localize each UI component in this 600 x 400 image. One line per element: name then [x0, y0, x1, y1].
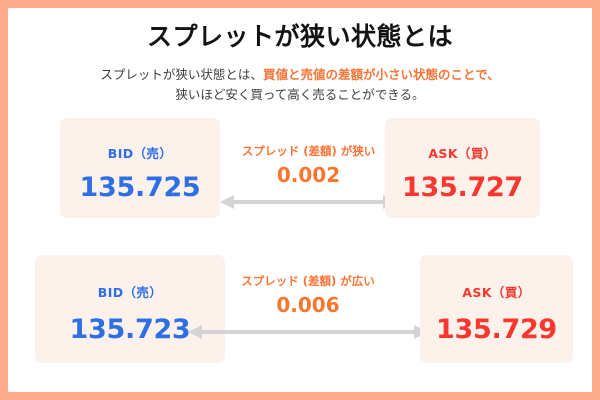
- bid-value: 135.723: [70, 316, 191, 343]
- spread-value: 0.006: [188, 295, 428, 315]
- subtitle-line2: 狭いほど安く買って高く売ることができる。: [175, 87, 424, 102]
- spread-label: スプレッド (差額) が狭い: [220, 146, 397, 158]
- bid-label: BID（売）: [108, 148, 172, 161]
- header: スプレットが狭い状態とは スプレットが狭い状態とは、買値と売値の差額が小さい状態…: [8, 22, 592, 106]
- spread-narrow: スプレッド (差額) が狭い 0.002: [220, 146, 397, 210]
- page-subtitle: スプレットが狭い状態とは、買値と売値の差額が小さい状態のことで、 狭いほど安く買…: [8, 65, 592, 106]
- spread-label: スプレッド (差額) が広い: [188, 276, 428, 288]
- ask-value: 135.727: [402, 174, 523, 201]
- spread-value: 0.002: [220, 165, 397, 185]
- spread-wide: スプレッド (差額) が広い 0.006: [188, 276, 428, 340]
- page-title: スプレットが狭い状態とは: [8, 22, 592, 52]
- ask-box-wide: ASK（買） 135.729: [420, 255, 573, 363]
- bid-box-narrow: BID（売） 135.725: [60, 118, 220, 218]
- bid-label: BID（売）: [98, 287, 162, 300]
- ask-label: ASK（買）: [462, 287, 530, 300]
- ask-label: ASK（買）: [428, 148, 496, 161]
- spread-infographic: スプレットが狭い状態とは スプレットが狭い状態とは、買値と売値の差額が小さい状態…: [0, 0, 600, 400]
- double-arrow-horizontal-icon: [220, 194, 397, 210]
- ask-box-narrow: ASK（買） 135.727: [385, 118, 540, 218]
- subtitle-line1-plain: スプレットが狭い状態とは、: [100, 67, 263, 82]
- bid-value: 135.725: [80, 174, 201, 201]
- subtitle-line1-highlight: 買値と売値の差額が小さい状態のことで、: [263, 67, 500, 82]
- double-arrow-horizontal-icon: [188, 324, 428, 340]
- ask-value: 135.729: [436, 316, 557, 343]
